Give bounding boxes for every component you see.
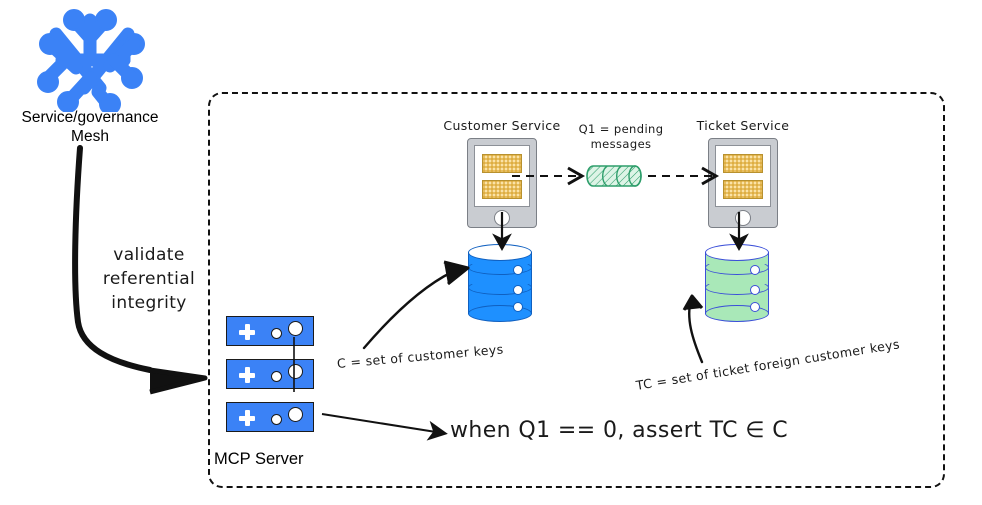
phone-screen [474, 145, 530, 207]
diagram-canvas: Service/governance Mesh validate referen… [0, 0, 982, 505]
status-dot-icon [271, 328, 282, 339]
phone-content-row [723, 154, 763, 173]
ticket-service-title: Ticket Service [697, 118, 790, 133]
assertion-expression: when Q1 == 0, assert TC ∈ C [450, 418, 788, 443]
customer-service-title: Customer Service [443, 118, 560, 133]
queue-label: Q1 = pending messages [568, 122, 674, 152]
mcp-server-bar [226, 316, 314, 346]
ticket-service-phone-icon [708, 138, 778, 228]
phone-screen [715, 145, 771, 207]
mcp-server-bar [226, 402, 314, 432]
customer-database-icon[interactable] [468, 244, 532, 322]
status-dot-icon [271, 371, 282, 382]
phone-content-row [482, 154, 522, 173]
phone-content-row [482, 180, 522, 199]
phone-home-button-icon [494, 210, 510, 226]
mcp-server-label: MCP Server [214, 450, 304, 469]
plus-icon [239, 367, 255, 383]
validate-flow-label: validate referential integrity [84, 243, 214, 315]
customer-service-node[interactable]: Customer Service [437, 118, 567, 248]
status-dot-icon [288, 364, 303, 379]
plus-icon [239, 324, 255, 340]
status-dot-icon [271, 414, 282, 425]
status-dot-icon [288, 407, 303, 422]
customer-service-phone-icon [467, 138, 537, 228]
status-dot-icon [288, 321, 303, 336]
message-queue-icon[interactable] [585, 160, 643, 192]
service-mesh-logo-icon [28, 8, 156, 112]
mesh-label: Service/governance Mesh [0, 108, 180, 146]
ticket-service-node[interactable]: Ticket Service [678, 118, 808, 248]
mcp-server-bar [226, 359, 314, 389]
ticket-database-icon[interactable] [705, 244, 769, 322]
plus-icon [239, 410, 255, 426]
phone-content-row [723, 180, 763, 199]
mcp-server-stack[interactable] [226, 316, 316, 432]
phone-home-button-icon [735, 210, 751, 226]
